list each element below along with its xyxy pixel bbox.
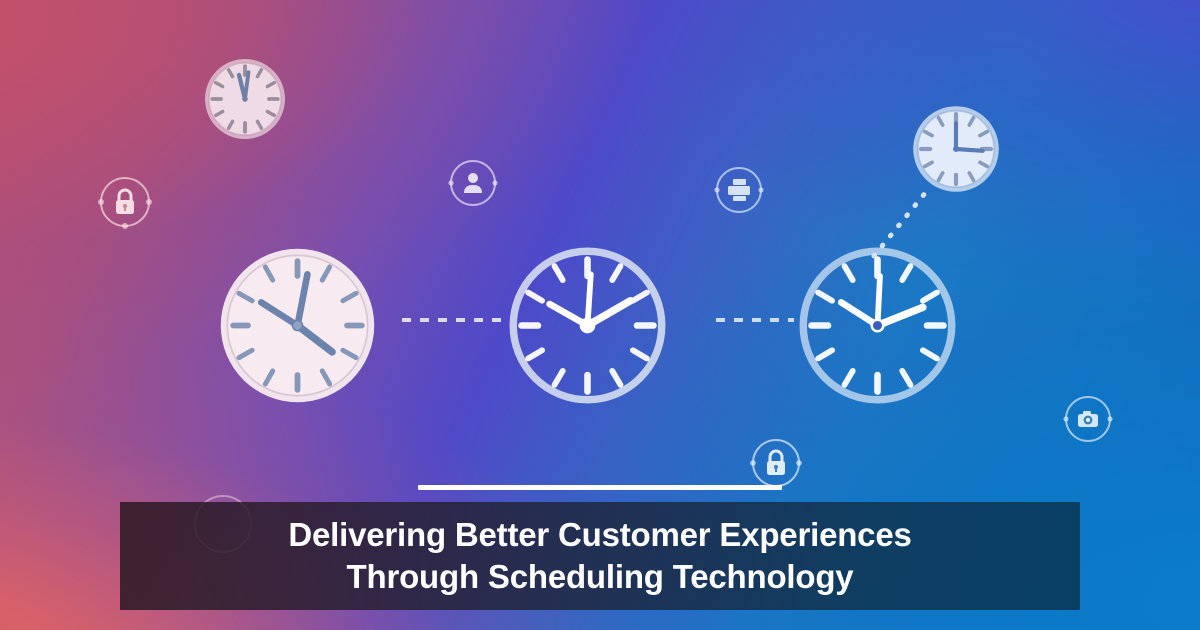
lock-icon: [767, 451, 785, 475]
horizontal-rule: [418, 485, 782, 490]
clock-hands: [550, 274, 631, 331]
caption-bar: Delivering Better Customer Experiences T…: [120, 502, 1080, 610]
user-icon: [464, 173, 482, 193]
clock-small-top-left: [202, 56, 288, 142]
bubble-camera: [1063, 394, 1113, 449]
camera-icon: [1078, 411, 1098, 427]
bubble-user: [448, 158, 498, 213]
clock-large-left: [215, 243, 380, 408]
poster-canvas: Delivering Better Customer Experiences T…: [0, 0, 1200, 630]
clock-hands: [841, 276, 923, 331]
printer-icon: [728, 179, 750, 201]
clock-large-center: [505, 243, 670, 408]
bubble-printer: [714, 165, 764, 220]
clock-small-top-right: [910, 103, 1002, 195]
clock-large-right: [795, 243, 960, 408]
lock-icon: [116, 190, 134, 214]
bubble-lock-left: [97, 174, 153, 235]
caption-line-2: Through Scheduling Technology: [347, 556, 854, 598]
caption-line-1: Delivering Better Customer Experiences: [288, 514, 911, 556]
